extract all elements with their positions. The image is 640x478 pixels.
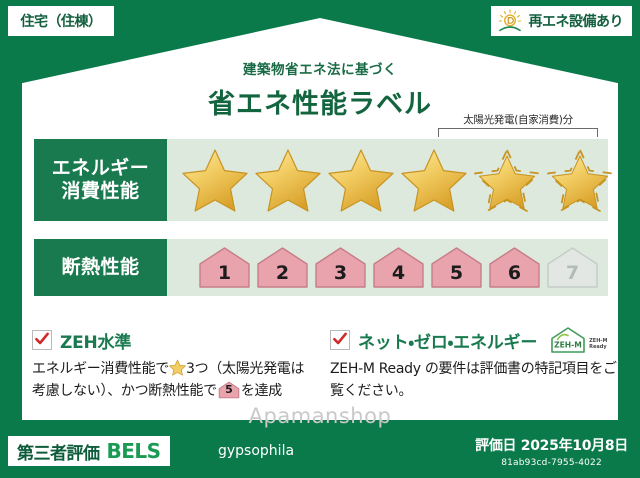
star-icon-filled-4: [400, 147, 468, 213]
insulation-grade-value: 4: [392, 262, 405, 290]
zeh-text-part2: 3つ（太陽光発電: [186, 361, 291, 377]
solar-note-text: 太陽光発電(自家消費)分: [438, 112, 598, 127]
net-zero-energy-block: ネット・ゼロ・エネルギー ZEH-M ZEH-M Ready ZEH-M Rea…: [330, 328, 620, 402]
evaluation-id: 81ab93cd-7955-4022: [475, 458, 628, 468]
net-zero-energy-header: ネット・ゼロ・エネルギー ZEH-M ZEH-M Ready: [330, 328, 620, 352]
insulation-grade-value: 5: [450, 262, 463, 290]
insulation-grade-value: 2: [276, 262, 289, 290]
net-zero-energy-checkbox[interactable]: [330, 330, 350, 350]
insulation-grade-value: 7: [566, 262, 579, 290]
insulation-grade-1: 1: [197, 245, 252, 290]
zeh-m-ready-line2: Ready: [589, 344, 606, 350]
renewable-equipment-badge: 再エネ設備あり: [491, 6, 633, 36]
building-type-tag: 住宅（住棟）: [8, 6, 114, 36]
building-type-label: 住宅（住棟）: [21, 11, 102, 31]
net-zero-energy-title: ネット・ゼロ・エネルギー: [358, 328, 537, 353]
zeh-m-house-icon: ZEH-M: [549, 326, 587, 354]
energy-performance-label: エネルギー 消費性能: [34, 139, 167, 221]
insulation-grade-7: 7: [545, 245, 600, 290]
insulation-grade-2: 2: [255, 245, 310, 290]
inline-grade-value: 5: [218, 381, 240, 398]
renewable-badge-label: 再エネ設備あり: [529, 11, 624, 31]
solar-sun-icon: [496, 9, 524, 33]
zeh-standard-title: ZEH水準: [60, 328, 131, 353]
energy-performance-row: エネルギー 消費性能 太陽光発電(自家消費)分: [34, 139, 608, 221]
solar-consumption-annotation: 太陽光発電(自家消費)分: [438, 112, 598, 137]
insulation-grade-value: 6: [508, 262, 521, 290]
insulation-grade-scale: 1 2 3 4: [167, 239, 608, 296]
zeh-m-ready-caption: ZEH-M Ready: [589, 338, 607, 355]
zeh-standard-header: ZEH水準: [32, 328, 314, 352]
energy-label-line2: 消費性能: [61, 180, 139, 203]
insulation-grade-3: 3: [313, 245, 368, 290]
insulation-grade-value: 1: [218, 262, 231, 290]
insulation-performance-row: 断熱性能 1 2: [34, 239, 608, 296]
solar-note-bracket: [438, 128, 598, 137]
bels-jp-label: 第三者評価: [17, 439, 100, 464]
zeh-m-logo: ZEH-M ZEH-M Ready: [549, 326, 607, 354]
property-name: gypsophila: [218, 443, 294, 459]
evaluation-date: 評価日 2025年10月8日: [475, 435, 628, 455]
insulation-grade-5: 5: [429, 245, 484, 290]
insulation-performance-value: 1 2 3 4: [167, 239, 608, 296]
star-icon-filled-2: [254, 147, 322, 213]
zeh-standard-description: エネルギー消費性能で3つ（太陽光発電は考慮しない）、かつ断熱性能で5を達成: [32, 359, 314, 402]
star-icon-solar-5: [473, 147, 541, 213]
zeh-standard-block: ZEH水準 エネルギー消費性能で3つ（太陽光発電は考慮しない）、かつ断熱性能で5…: [32, 328, 314, 402]
net-zero-energy-description: ZEH-M Ready の要件は評価書の特記項目をご覧ください。: [330, 359, 620, 402]
star-icon-filled-3: [327, 147, 395, 213]
insulation-grade-value: 3: [334, 262, 347, 290]
inline-star-icon: [169, 359, 186, 376]
title-subtitle: 建築物省エネ法に基づく: [0, 58, 640, 78]
footer-bar: 第三者評価 BELS gypsophila 評価日 2025年10月8日 81a…: [0, 430, 640, 478]
energy-performance-value: 太陽光発電(自家消費)分: [167, 139, 608, 221]
zeh-standard-checkbox[interactable]: [32, 330, 52, 350]
bels-certification-box: 第三者評価 BELS: [8, 436, 170, 466]
check-icon: [34, 331, 50, 347]
zeh-m-ready-line1: ZEH-M: [589, 338, 607, 344]
star-icon-solar-6: [546, 147, 614, 213]
zeh-text-part4: を達成: [241, 383, 282, 399]
insulation-grade-6: 6: [487, 245, 542, 290]
evaluation-info: 評価日 2025年10月8日 81ab93cd-7955-4022: [475, 435, 628, 468]
insulation-label-text: 断熱性能: [61, 256, 139, 279]
insulation-performance-label: 断熱性能: [34, 239, 167, 296]
energy-label-line1: エネルギー: [52, 157, 150, 180]
svg-text:ZEH-M: ZEH-M: [554, 341, 582, 350]
energy-star-rating: [167, 139, 608, 221]
energy-performance-label: 住宅（住棟） 再エネ設備あり 建築物省エネ法に基づく 省エネ性能ラベル エネル: [0, 0, 640, 478]
check-icon: [332, 331, 348, 347]
zeh-text-part1: エネルギー消費性能で: [32, 361, 169, 377]
bels-en-label: BELS: [107, 439, 161, 463]
inline-house-badge-icon: 5: [218, 381, 240, 399]
insulation-grade-4: 4: [371, 245, 426, 290]
star-icon-filled-1: [181, 147, 249, 213]
